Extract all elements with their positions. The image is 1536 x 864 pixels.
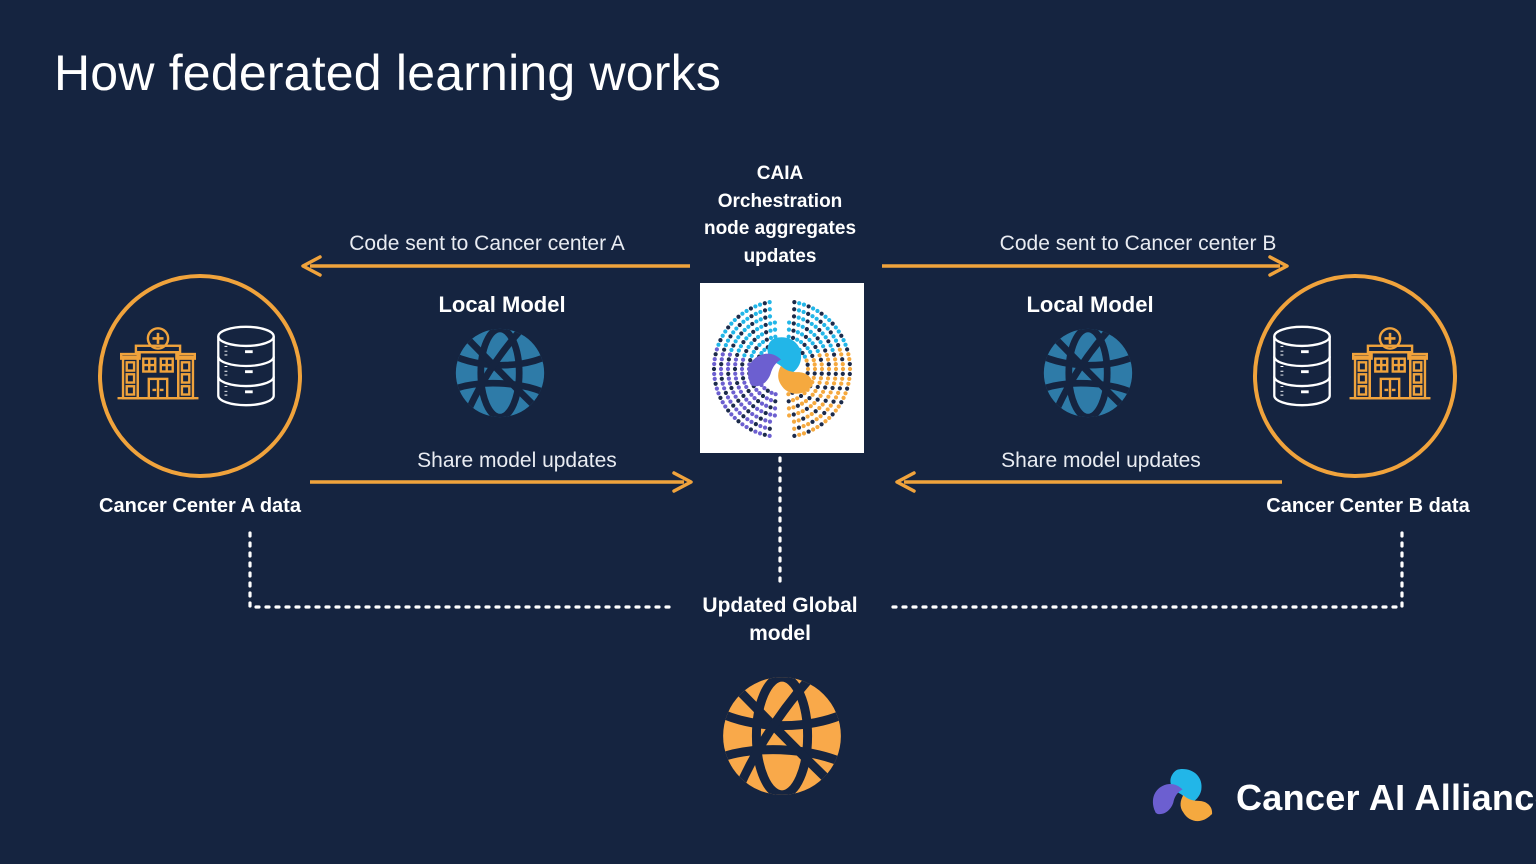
caia-heading-line-3: node aggregates <box>680 215 880 243</box>
dotted-path-left <box>250 533 672 607</box>
cancer-center-b-icons <box>1268 320 1436 412</box>
right-local-model-label: Local Model <box>990 292 1190 318</box>
global-label-line-2: model <box>680 620 880 648</box>
caia-heading-line-1: CAIA <box>680 160 880 188</box>
cancer-center-a-label: Cancer Center A data <box>60 495 340 518</box>
right-code-arrow <box>876 252 1296 280</box>
left-code-arrow <box>298 252 698 280</box>
hospital-icon <box>112 320 204 412</box>
global-model-globe-icon <box>718 672 846 800</box>
local-model-globe-icon-right <box>1040 325 1136 421</box>
database-icon <box>1268 323 1336 409</box>
updated-global-model-label: Updated Global model <box>680 592 880 649</box>
diagram-canvas: How federated learning works CAIA Orches… <box>0 0 1536 864</box>
cancer-center-b-label: Cancer Center B data <box>1228 495 1508 518</box>
cancer-ai-alliance-logo-icon <box>1148 762 1220 834</box>
caia-heading-line-2: Orchestration <box>680 188 880 216</box>
brand-name: Cancer AI Alliance <box>1236 777 1536 819</box>
dotted-path-right <box>886 533 1402 607</box>
hospital-icon <box>1344 320 1436 412</box>
left-local-model-label: Local Model <box>402 292 602 318</box>
caia-heading-line-4: updates <box>680 243 880 271</box>
global-label-line-1: Updated Global <box>680 592 880 620</box>
database-icon <box>212 323 280 409</box>
cancer-center-a-icons <box>112 320 280 412</box>
right-share-arrow <box>890 468 1286 496</box>
page-title: How federated learning works <box>54 44 721 102</box>
caia-logo-icon <box>700 283 864 453</box>
brand-logo-area: Cancer AI Alliance <box>1148 762 1536 834</box>
left-share-arrow <box>306 468 700 496</box>
local-model-globe-icon-left <box>452 325 548 421</box>
caia-node-heading: CAIA Orchestration node aggregates updat… <box>680 160 880 270</box>
caia-orchestration-node-tile[interactable] <box>700 283 864 453</box>
